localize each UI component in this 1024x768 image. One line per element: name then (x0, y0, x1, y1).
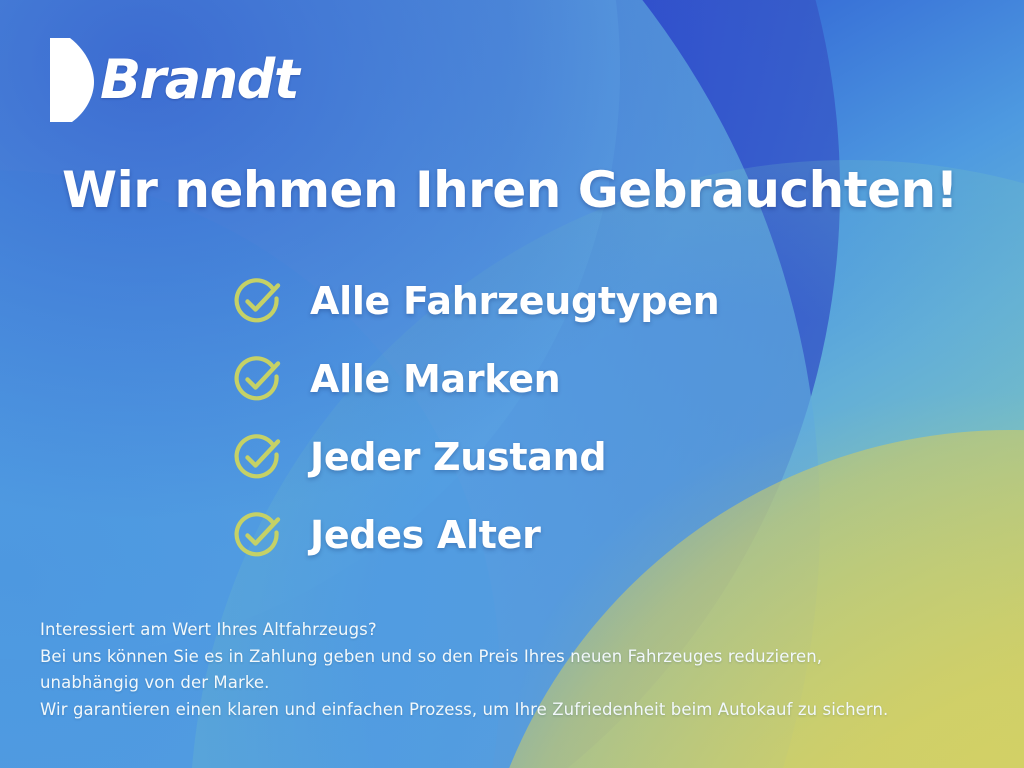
brand-wordmark: Brandt (100, 53, 298, 107)
check-circle-icon (232, 431, 284, 483)
check-circle-icon (232, 353, 284, 405)
feature-list: Alle Fahrzeugtypen Alle Marken (232, 262, 719, 574)
check-circle-icon (232, 509, 284, 561)
feature-label: Jeder Zustand (310, 438, 606, 476)
list-item: Alle Marken (232, 340, 719, 418)
list-item: Jeder Zustand (232, 418, 719, 496)
feature-label: Alle Fahrzeugtypen (310, 282, 719, 320)
feature-label: Jedes Alter (310, 516, 541, 554)
list-item: Jedes Alter (232, 496, 719, 574)
brandt-crescent-logomark-icon (48, 36, 96, 124)
footer-line: Bei uns können Sie es in Zahlung geben u… (40, 644, 984, 671)
footer-line: unabhängig von der Marke. (40, 670, 984, 697)
promo-banner: Brandt Wir nehmen Ihren Gebrauchten! All… (0, 0, 1024, 768)
footer-line: Interessiert am Wert Ihres Altfahrzeugs? (40, 617, 984, 644)
banner-content: Brandt Wir nehmen Ihren Gebrauchten! All… (0, 0, 1024, 768)
brand-logo[interactable]: Brandt (48, 36, 298, 124)
check-circle-icon (232, 275, 284, 327)
footer-line: Wir garantieren einen klaren und einfach… (40, 697, 984, 724)
footer-text: Interessiert am Wert Ihres Altfahrzeugs?… (40, 617, 984, 724)
feature-label: Alle Marken (310, 360, 560, 398)
list-item: Alle Fahrzeugtypen (232, 262, 719, 340)
page-title: Wir nehmen Ihren Gebrauchten! (62, 163, 958, 218)
